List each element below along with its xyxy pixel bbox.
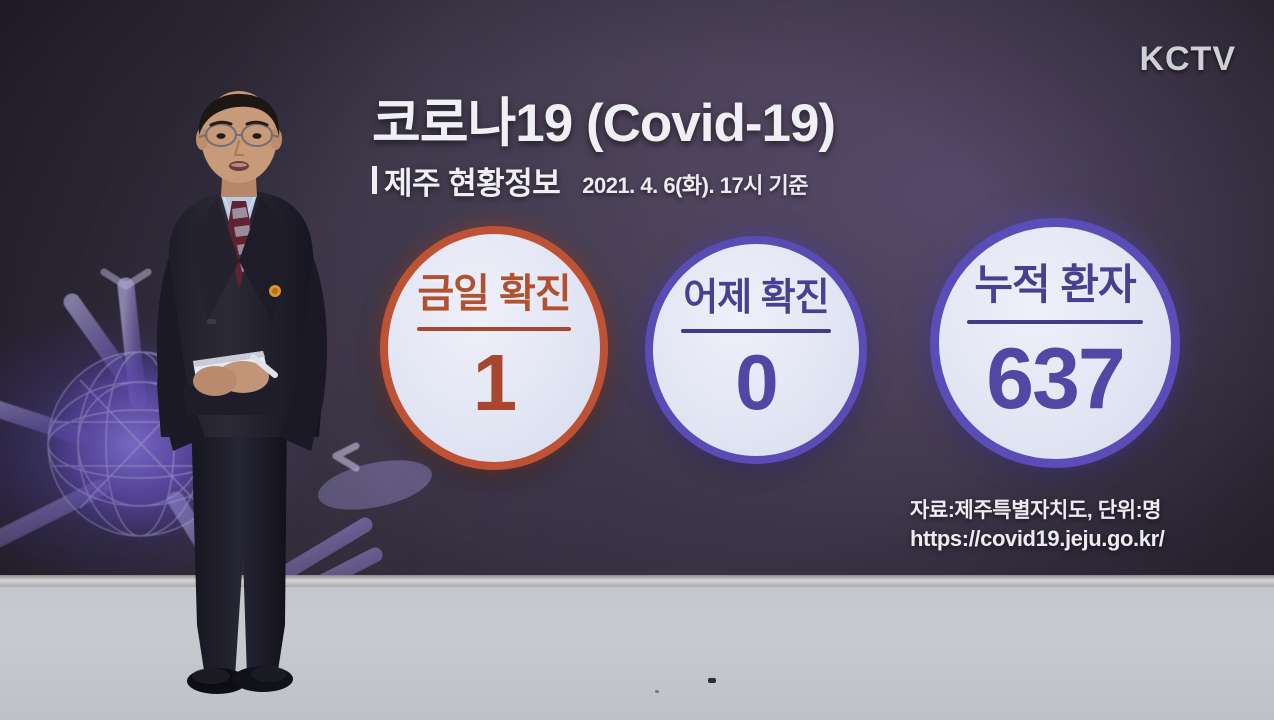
stat-label: 누적 환자 — [974, 264, 1135, 306]
stat-circle-group: 금일 확진 1 어제 확진 0 누적 환자 637 — [380, 218, 1180, 468]
stat-circle-cumulative-patients: 누적 환자 637 — [930, 218, 1180, 468]
stat-circle-today-confirmed: 금일 확진 1 — [380, 226, 608, 470]
stat-label: 어제 확진 — [683, 279, 828, 317]
news-anchor — [135, 85, 365, 705]
report-timestamp: 2021. 4. 6(화). 17시 기준 — [582, 168, 808, 203]
subtitle-row: 제주 현황정보 2021. 4. 6(화). 17시 기준 — [372, 158, 1072, 203]
source-line-url: https://covid19.jeju.go.kr/ — [910, 525, 1164, 553]
stat-divider — [681, 329, 831, 333]
broadcast-screenshot: KCTV 코로나19 (Covid-19) 제주 현황정보 2021. 4. 6… — [0, 0, 1274, 720]
headline-block: 코로나19 (Covid-19) 제주 현황정보 2021. 4. 6(화). … — [372, 96, 1072, 203]
subtitle-bar-icon — [372, 166, 377, 194]
stat-value: 637 — [986, 336, 1124, 422]
subtitle-text: 제주 현황정보 — [384, 158, 560, 203]
page-subtitle: 제주 현황정보 — [372, 158, 560, 203]
stat-value: 1 — [473, 343, 516, 423]
stat-circle-yesterday-confirmed: 어제 확진 0 — [645, 236, 867, 464]
stat-divider — [967, 320, 1143, 324]
source-line-credit: 자료:제주특별자치도, 단위:명 — [910, 498, 1164, 525]
page-title: 코로나19 (Covid-19) — [372, 96, 1072, 152]
floor-speck — [655, 690, 659, 693]
source-footer: 자료:제주특별자치도, 단위:명 https://covid19.jeju.go… — [910, 498, 1164, 553]
stat-value: 0 — [735, 343, 776, 421]
floor-speck — [708, 678, 716, 683]
stat-divider — [417, 327, 571, 331]
stat-label: 금일 확진 — [417, 274, 570, 314]
kctv-logo: KCTV — [1139, 40, 1236, 79]
